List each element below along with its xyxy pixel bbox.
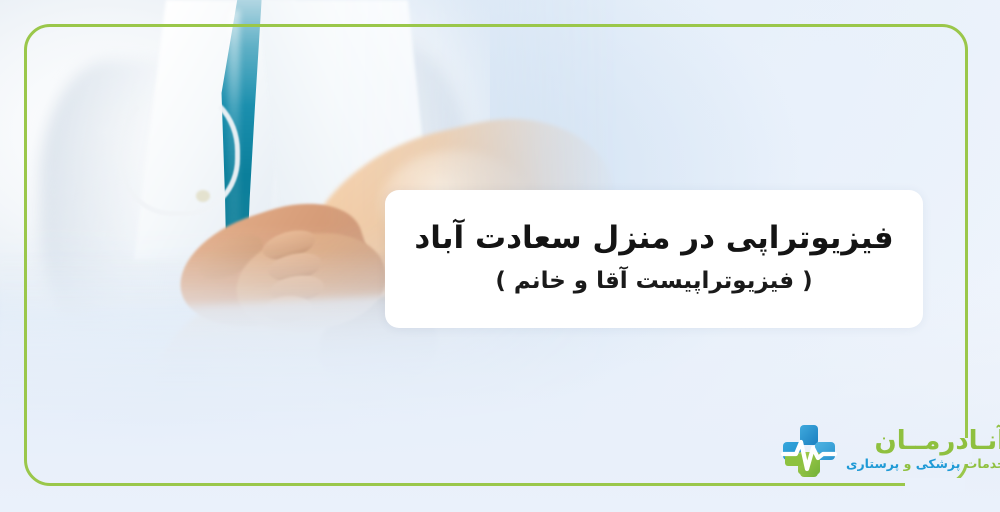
medical-cross-heartbeat-icon	[780, 422, 838, 480]
logo-tagline-part1: خدمات	[965, 456, 1000, 471]
brand-logo[interactable]: آنـادرمــان خدمات پزشکی و پرستاری	[780, 414, 980, 488]
logo-wordmark: آنـادرمــان خدمات پزشکی و پرستاری	[846, 428, 1000, 474]
page-title: فیزیوتراپی در منزل سعادت آباد	[414, 216, 893, 260]
logo-tagline-part4: پرستاری	[846, 456, 899, 471]
stethoscope-tubing	[118, 86, 240, 216]
page-subtitle: ( فیزیوتراپیست آقا و خانم )	[495, 264, 812, 299]
logo-tagline: خدمات پزشکی و پرستاری	[846, 456, 1000, 472]
headline-card: فیزیوتراپی در منزل سعادت آباد ( فیزیوترا…	[385, 190, 923, 328]
stethoscope-clip	[196, 190, 210, 202]
logo-name: آنـادرمــان	[875, 428, 1000, 455]
logo-tagline-part2: پزشکی	[916, 456, 961, 471]
promo-banner: فیزیوتراپی در منزل سعادت آباد ( فیزیوترا…	[0, 0, 1000, 512]
